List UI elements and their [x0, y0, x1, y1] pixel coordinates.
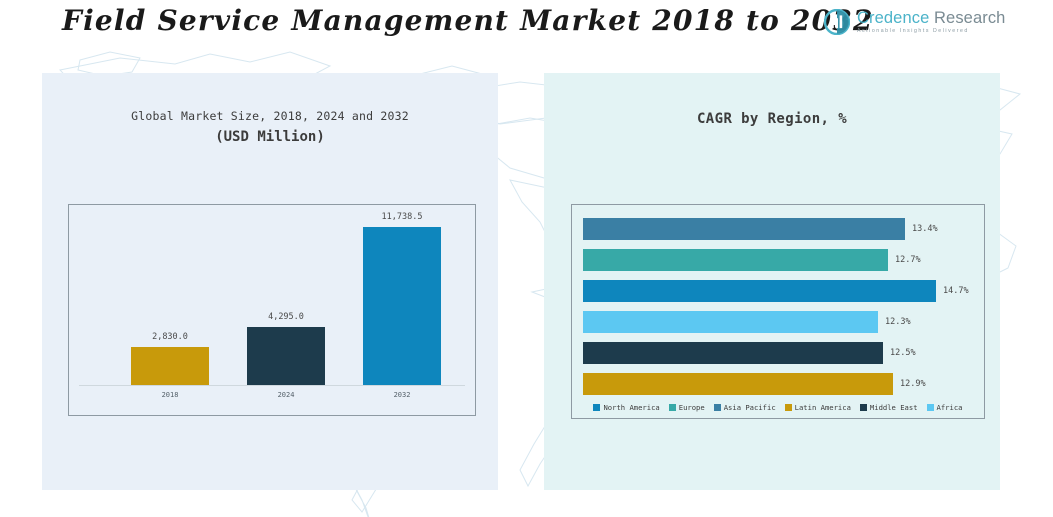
right-chart-title: CAGR by Region, % — [544, 111, 1000, 127]
horizontal-bar-row: 12.3% — [583, 311, 976, 333]
left-chart-panel: Global Market Size, 2018, 2024 and 2032 … — [42, 73, 498, 490]
bar-value-label: 12.9% — [900, 379, 926, 389]
horizontal-bar-plot-area: 13.4%12.7%14.7%12.3%12.5%12.9% — [583, 216, 976, 388]
x-axis-tick-label: 2032 — [363, 391, 441, 399]
legend-item[interactable]: North America — [593, 403, 659, 412]
bar-chart-circle-icon — [824, 9, 850, 35]
bar-value-label: 14.7% — [943, 286, 969, 296]
left-chart-box: 2,830.020184,295.0202411,738.52032 — [68, 204, 476, 416]
legend-color-swatch — [927, 404, 934, 411]
left-chart-title-line1: Global Market Size, 2018, 2024 and 2032 — [42, 109, 498, 123]
legend-label: Asia Pacific — [724, 403, 776, 412]
horizontal-bar-row: 12.7% — [583, 249, 976, 271]
legend-label: Africa — [937, 403, 963, 412]
bar-value-label: 2,830.0 — [131, 332, 209, 342]
vertical-bar-group: 2,830.02018 — [131, 347, 209, 385]
right-chart-panel: CAGR by Region, % 13.4%12.7%14.7%12.3%12… — [544, 73, 1000, 490]
region-legend: North AmericaEuropeAsia PacificLatin Ame… — [572, 403, 984, 412]
brand-logo: Credence Research Actionable Insights De… — [824, 9, 1005, 35]
vertical-bar-plot-area: 2,830.020184,295.0202411,738.52032 — [79, 217, 465, 407]
brand-name: Credence Research — [857, 10, 1005, 27]
x-axis-tick-label: 2018 — [131, 391, 209, 399]
bar-value-label: 12.3% — [885, 317, 911, 327]
x-axis-tick-label: 2024 — [247, 391, 325, 399]
left-chart-title-line2: (USD Million) — [42, 129, 498, 145]
horizontal-bar[interactable] — [583, 342, 883, 364]
legend-label: Middle East — [870, 403, 918, 412]
horizontal-bar-row: 14.7% — [583, 280, 976, 302]
brand-logo-text: Credence Research Actionable Insights De… — [857, 10, 1005, 35]
vertical-bar-group: 4,295.02024 — [247, 327, 325, 385]
horizontal-bar[interactable] — [583, 218, 905, 240]
legend-item[interactable]: Latin America — [785, 403, 851, 412]
x-axis-line — [79, 385, 465, 386]
horizontal-bar-row: 12.9% — [583, 373, 976, 395]
legend-color-swatch — [669, 404, 676, 411]
legend-label: North America — [603, 403, 659, 412]
bar-value-label: 12.5% — [890, 348, 916, 358]
page-title: Field Service Management Market 2018 to … — [62, 4, 874, 37]
bar-value-label: 12.7% — [895, 255, 921, 265]
legend-color-swatch — [593, 404, 600, 411]
horizontal-bar-row: 13.4% — [583, 218, 976, 240]
horizontal-bar[interactable] — [583, 311, 878, 333]
bar-value-label: 13.4% — [912, 224, 938, 234]
vertical-bar-group: 11,738.52032 — [363, 227, 441, 385]
legend-item[interactable]: Africa — [927, 403, 963, 412]
legend-color-swatch — [785, 404, 792, 411]
vertical-bar[interactable] — [131, 347, 209, 385]
horizontal-bar[interactable] — [583, 280, 936, 302]
horizontal-bar[interactable] — [583, 373, 893, 395]
legend-label: Europe — [679, 403, 705, 412]
vertical-bar[interactable] — [363, 227, 441, 385]
legend-item[interactable]: Asia Pacific — [714, 403, 776, 412]
header-bar: Field Service Management Market 2018 to … — [0, 0, 1053, 48]
bar-value-label: 11,738.5 — [363, 212, 441, 222]
bar-value-label: 4,295.0 — [247, 312, 325, 322]
legend-label: Latin America — [795, 403, 851, 412]
horizontal-bar[interactable] — [583, 249, 888, 271]
brand-tagline: Actionable Insights Delivered — [857, 29, 1005, 34]
infographic-page: Field Service Management Market 2018 to … — [0, 0, 1053, 517]
brand-name-primary: Credence — [857, 9, 929, 27]
legend-color-swatch — [714, 404, 721, 411]
brand-name-secondary: Research — [934, 9, 1005, 27]
right-chart-box: 13.4%12.7%14.7%12.3%12.5%12.9% North Ame… — [571, 204, 985, 419]
legend-item[interactable]: Europe — [669, 403, 705, 412]
vertical-bar[interactable] — [247, 327, 325, 385]
legend-color-swatch — [860, 404, 867, 411]
horizontal-bar-row: 12.5% — [583, 342, 976, 364]
legend-item[interactable]: Middle East — [860, 403, 918, 412]
